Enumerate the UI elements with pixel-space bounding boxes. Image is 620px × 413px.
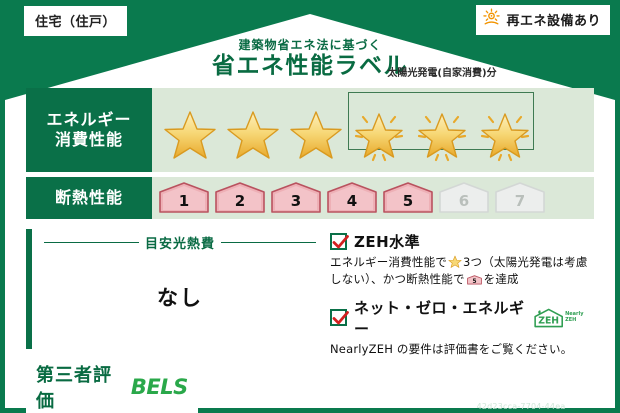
title-main: 省エネ性能ラベル: [0, 54, 620, 79]
insulation-level-2: 2: [214, 182, 266, 214]
renewable-badge-label: 再エネ設備あり: [506, 10, 601, 29]
insulation-level-5: 5: [382, 182, 434, 214]
zeh-standard-checkbox[interactable]: [330, 233, 347, 250]
inline-star-icon: [448, 255, 462, 269]
evaluation-date: 評価日 2024年7月12日: [452, 363, 590, 401]
utility-cost-heading: 目安光熱費: [44, 233, 316, 252]
renewable-equipment-badge: 再エネ設備あり: [476, 5, 610, 35]
star-rating: [158, 106, 588, 166]
insulation-level-3: 3: [270, 182, 322, 214]
lower-section: 目安光熱費 なし ZEH水準 エネルギー消費性能で3つ（太陽光発電は考慮しない）…: [26, 229, 594, 349]
label-footer: 第三者評価 BELS まちなかxevo沼津寿町Ⅱ-1号地 分譲住宅新築工事 評価…: [26, 369, 594, 405]
inline-insulation-badge-icon: 5: [467, 274, 482, 286]
building-type-tag: 住宅（住戸）: [24, 6, 127, 36]
insulation-badges-area: 1 2 3: [152, 177, 594, 219]
insulation-level-5-number: 5: [403, 194, 413, 214]
star-2: [221, 106, 284, 166]
zeh-logo-subtext: Nearly ZEH: [565, 312, 594, 323]
zeh-standard-description: エネルギー消費性能で3つ（太陽光発電は考慮しない）、かつ断熱性能で5を達成: [330, 254, 594, 289]
utility-cost-value: なし: [44, 282, 316, 312]
zeh-desc-star-count: 3つ: [463, 255, 482, 269]
svg-text:ZEH: ZEH: [538, 315, 559, 326]
insulation-level-6: 6: [438, 182, 490, 214]
insulation-level-1: 1: [158, 182, 210, 214]
energy-stars-area: 太陽光発電(自家消費)分: [152, 88, 594, 172]
insulation-level-4: 4: [326, 182, 378, 214]
insulation-level-3-number: 3: [291, 194, 301, 214]
insulation-level-7: 7: [494, 182, 546, 214]
third-party-label: 第三者評価: [36, 361, 124, 413]
zeh-desc-part1: エネルギー消費性能で: [330, 255, 447, 269]
zeh-netzero-row: ネット・ゼロ・エネルギー ZEH Nearly ZEH: [330, 297, 594, 339]
star-6-solar: [473, 106, 536, 166]
check-icon: [331, 233, 350, 252]
evaluation-date-block: 評価日 2024年7月12日 42d23cca-7704-44ea: [452, 363, 594, 411]
bels-wordmark: BELS: [131, 375, 188, 399]
utility-cost-section: 目安光熱費 なし: [26, 229, 316, 349]
bels-energy-label: 住宅（住戸） 再エネ設備あり 建築物省エネ法に基づく: [0, 0, 620, 413]
zeh-section: ZEH水準 エネルギー消費性能で3つ（太陽光発電は考慮しない）、かつ断熱性能で5…: [316, 229, 594, 349]
svg-text:5: 5: [472, 279, 476, 285]
label-title-block: 建築物省エネ法に基づく 省エネ性能ラベル: [0, 36, 620, 79]
insulation-level-6-number: 6: [459, 194, 469, 214]
zeh-standard-row: ZEH水準: [330, 231, 594, 252]
insulation-level-2-number: 2: [235, 194, 245, 214]
utility-cost-title: 目安光熱費: [145, 233, 215, 252]
star-4-solar: [347, 106, 410, 166]
evaluation-date-label: 評価日: [455, 366, 493, 381]
bels-mark: 第三者評価 BELS: [26, 358, 198, 413]
cost-rule-right: [221, 242, 316, 243]
energy-performance-label: エネルギー 消費性能: [26, 88, 152, 172]
zeh-netzero-description: NearlyZEH の要件は評価書をご覧ください。: [330, 341, 594, 358]
cost-rule-left: [44, 242, 139, 243]
star-3: [284, 106, 347, 166]
insulation-level-7-number: 7: [515, 194, 525, 214]
energy-label-line1: エネルギー: [46, 110, 131, 130]
insulation-performance-row: 断熱性能 1 2: [26, 177, 594, 219]
insulation-label-text: 断熱性能: [55, 188, 123, 208]
energy-performance-row: エネルギー 消費性能 太陽光発電(自家消費)分: [26, 88, 594, 172]
title-subtitle: 建築物省エネ法に基づく: [0, 36, 620, 53]
project-name: まちなかxevo沼津寿町Ⅱ-1号地 分譲住宅新築工事: [207, 380, 452, 395]
insulation-level-4-number: 4: [347, 194, 357, 214]
sun-icon: [482, 8, 501, 31]
insulation-performance-label: 断熱性能: [26, 177, 152, 219]
zeh-standard-title: ZEH水準: [354, 231, 420, 252]
star-5-solar: [410, 106, 473, 166]
insulation-level-1-number: 1: [179, 194, 189, 214]
solar-annotation: 太陽光発電(自家消費)分: [387, 64, 496, 79]
star-1: [158, 106, 221, 166]
evaluation-code: 42d23cca-7704-44ea: [452, 402, 590, 411]
zeh-netzero-checkbox[interactable]: [330, 309, 347, 326]
performance-panel: エネルギー 消費性能 太陽光発電(自家消費)分: [26, 88, 594, 360]
energy-label-line2: 消費性能: [55, 130, 123, 150]
zeh-desc-part3: を達成: [484, 272, 519, 286]
check-icon: [331, 309, 350, 328]
zeh-netzero-title: ネット・ゼロ・エネルギー: [354, 297, 526, 339]
evaluation-date-value: 2024年7月12日: [498, 366, 587, 400]
zeh-house-logo-icon: ZEH Nearly ZEH: [533, 307, 594, 329]
